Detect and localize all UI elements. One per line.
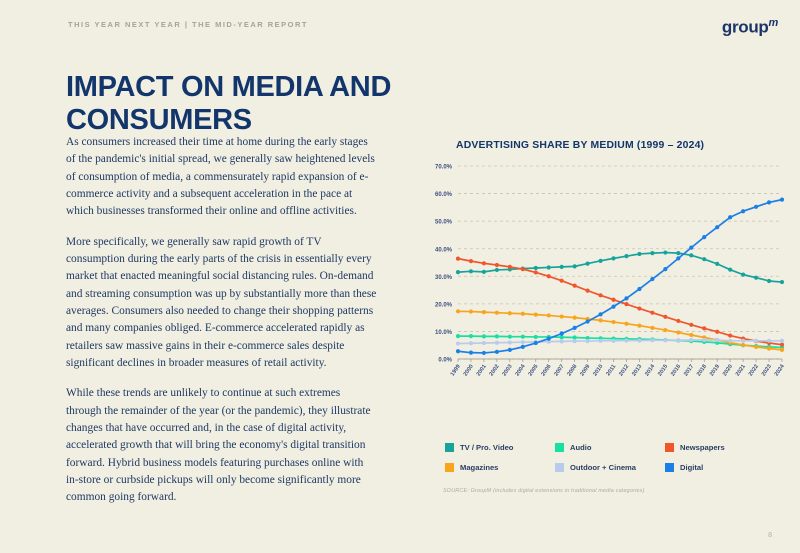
chart-data-point [534, 335, 538, 339]
x-axis-tick-label: 2022 [748, 364, 760, 378]
legend-item-digital[interactable]: Digital [665, 460, 775, 474]
chart-data-point [469, 309, 473, 313]
logo-text: group [722, 18, 769, 37]
legend-label: Newspapers [680, 443, 725, 452]
chart-data-point [482, 261, 486, 265]
chart-data-point [663, 250, 667, 254]
legend-swatch-icon [445, 443, 454, 452]
legend-swatch-icon [555, 443, 564, 452]
chart-data-point [676, 256, 680, 260]
chart-data-point [456, 270, 460, 274]
chart-data-point [780, 339, 784, 343]
x-axis-tick-label: 2012 [618, 364, 630, 378]
chart-data-point [663, 315, 667, 319]
x-axis-tick-label: 2011 [605, 364, 617, 377]
chart-data-point [495, 311, 499, 315]
chart-data-point [741, 339, 745, 343]
legend-swatch-icon [665, 463, 674, 472]
chart-data-point [482, 334, 486, 338]
x-axis-tick-label: 2004 [515, 363, 528, 377]
chart-data-point [689, 253, 693, 257]
chart-data-point [689, 246, 693, 250]
chart-data-point [624, 254, 628, 258]
chart-data-point [650, 326, 654, 330]
chart-data-point [469, 269, 473, 273]
x-axis-tick-label: 2015 [657, 364, 669, 378]
chart-data-point [780, 348, 784, 352]
chart-data-point [715, 338, 719, 342]
chart-data-point [650, 311, 654, 315]
chart-data-point [676, 319, 680, 323]
chart-data-point [611, 320, 615, 324]
chart-data-point [598, 293, 602, 297]
chart-data-point [573, 264, 577, 268]
chart-data-point [508, 265, 512, 269]
chart-data-point [741, 273, 745, 277]
advertising-share-line-chart: 0.0%10.0%20.0%30.0%40.0%50.0%60.0%70.0%1… [420, 160, 790, 405]
chart-data-point [715, 330, 719, 334]
chart-data-point [611, 298, 615, 302]
x-axis-tick-label: 2003 [502, 364, 514, 378]
chart-data-point [469, 259, 473, 263]
body-copy: As consumers increased their time at hom… [66, 134, 378, 520]
chart-data-point [586, 289, 590, 293]
x-axis-tick-label: 2017 [683, 364, 695, 378]
chart-plot-area: 0.0%10.0%20.0%30.0%40.0%50.0%60.0%70.0%1… [420, 160, 790, 405]
chart-data-point [547, 336, 551, 340]
chart-data-point [715, 225, 719, 229]
chart-data-point [560, 332, 564, 336]
legend-label: Audio [570, 443, 592, 452]
chart-data-point [534, 270, 538, 274]
x-axis-tick-label: 2024 [774, 363, 787, 377]
chart-data-point [754, 205, 758, 209]
chart-data-point [728, 339, 732, 343]
page-title: IMPACT ON MEDIA AND CONSUMERS [66, 71, 446, 137]
legend-item-outdoor-cinema[interactable]: Outdoor + Cinema [555, 460, 665, 474]
chart-data-point [586, 319, 590, 323]
chart-line-magazines [458, 311, 782, 350]
chart-data-point [650, 277, 654, 281]
x-axis-tick-label: 2006 [541, 364, 553, 378]
legend-swatch-icon [665, 443, 674, 452]
y-axis-tick-label: 20.0% [435, 302, 453, 308]
chart-data-point [637, 252, 641, 256]
x-axis-tick-label: 2019 [709, 364, 721, 378]
chart-data-point [624, 338, 628, 342]
chart-data-point [469, 351, 473, 355]
x-axis-tick-label: 2009 [579, 364, 591, 378]
chart-data-point [469, 341, 473, 345]
legend-label: Magazines [460, 463, 498, 472]
chart-data-point [560, 339, 564, 343]
page-number: 8 [768, 532, 772, 539]
chart-data-point [624, 296, 628, 300]
chart-data-point [728, 333, 732, 337]
x-axis-tick-label: 2010 [592, 364, 604, 378]
legend-item-tv-pro-video[interactable]: TV / Pro. Video [445, 440, 555, 454]
chart-data-point [521, 335, 525, 339]
chart-data-point [598, 318, 602, 322]
chart-data-point [728, 215, 732, 219]
chart-data-point [521, 345, 525, 349]
chart-data-point [456, 349, 460, 353]
chart-data-point [534, 313, 538, 317]
x-axis-tick-label: 1999 [450, 364, 462, 378]
chart-data-point [754, 276, 758, 280]
eyebrow-label: THIS YEAR NEXT YEAR | THE MID-YEAR REPOR… [68, 20, 308, 29]
chart-data-point [689, 323, 693, 327]
chart-data-point [611, 256, 615, 260]
chart-data-point [689, 338, 693, 342]
chart-data-point [508, 335, 512, 339]
x-axis-tick-label: 2000 [463, 364, 475, 378]
chart-data-point [495, 334, 499, 338]
x-axis-tick-label: 2007 [553, 364, 565, 378]
chart-data-point [560, 314, 564, 318]
chart-data-point [676, 251, 680, 255]
legend-label: Digital [680, 463, 703, 472]
slide-page: THIS YEAR NEXT YEAR | THE MID-YEAR REPOR… [0, 0, 800, 553]
x-axis-tick-label: 2020 [722, 364, 734, 378]
legend-item-newspapers[interactable]: Newspapers [665, 440, 775, 454]
chart-data-point [715, 262, 719, 266]
chart-data-point [482, 341, 486, 345]
chart-data-point [650, 338, 654, 342]
logo-superscript: m [769, 17, 778, 29]
groupm-logo: groupm [722, 17, 778, 38]
chart-data-point [611, 339, 615, 343]
legend-item-magazines[interactable]: Magazines [445, 460, 555, 474]
x-axis-tick-label: 2014 [644, 363, 657, 377]
chart-data-point [495, 350, 499, 354]
chart-data-point [754, 345, 758, 349]
chart-data-point [676, 338, 680, 342]
chart-data-point [573, 284, 577, 288]
chart-data-point [767, 279, 771, 283]
chart-data-point [598, 259, 602, 263]
chart-data-point [767, 346, 771, 350]
chart-data-point [456, 341, 460, 345]
chart-data-point [611, 305, 615, 309]
chart-data-point [780, 198, 784, 202]
y-axis-tick-label: 40.0% [435, 247, 453, 253]
chart-legend: TV / Pro. VideoAudioNewspapersMagazinesO… [445, 440, 775, 474]
chart-panel: ADVERTISING SHARE BY MEDIUM (1999 – 2024… [420, 128, 790, 428]
chart-data-point [547, 313, 551, 317]
y-axis-tick-label: 50.0% [435, 220, 453, 226]
chart-data-point [495, 341, 499, 345]
chart-data-point [637, 306, 641, 310]
chart-data-point [521, 340, 525, 344]
y-axis-tick-label: 10.0% [435, 330, 453, 336]
chart-data-point [637, 287, 641, 291]
chart-data-point [482, 310, 486, 314]
chart-data-point [728, 268, 732, 272]
legend-swatch-icon [445, 463, 454, 472]
x-axis-tick-label: 2023 [761, 364, 773, 378]
chart-data-point [624, 302, 628, 306]
chart-data-point [521, 312, 525, 316]
chart-data-point [456, 257, 460, 261]
chart-data-point [741, 209, 745, 213]
chart-data-point [508, 311, 512, 315]
chart-line-tv-pro-video [458, 253, 782, 283]
chart-data-point [508, 348, 512, 352]
legend-label: Outdoor + Cinema [570, 463, 636, 472]
chart-data-point [456, 309, 460, 313]
chart-data-point [547, 265, 551, 269]
chart-data-point [456, 334, 460, 338]
x-axis-tick-label: 2018 [696, 364, 708, 378]
legend-swatch-icon [555, 463, 564, 472]
chart-data-point [702, 257, 706, 261]
chart-data-point [702, 235, 706, 239]
chart-data-point [650, 251, 654, 255]
y-axis-tick-label: 70.0% [435, 165, 453, 171]
chart-data-point [767, 200, 771, 204]
chart-data-point [482, 351, 486, 355]
chart-data-point [702, 326, 706, 330]
x-axis-tick-label: 2002 [489, 364, 501, 378]
chart-data-point [573, 335, 577, 339]
x-axis-tick-label: 2021 [735, 364, 747, 378]
chart-data-point [521, 267, 525, 271]
chart-data-point [586, 262, 590, 266]
chart-data-point [702, 338, 706, 342]
chart-data-point [573, 326, 577, 330]
chart-data-point [573, 316, 577, 320]
x-axis-tick-label: 2005 [528, 364, 540, 378]
chart-data-point [495, 263, 499, 267]
paragraph-1: As consumers increased their time at hom… [66, 134, 378, 221]
chart-data-point [663, 338, 667, 342]
chart-data-point [508, 340, 512, 344]
chart-data-point [573, 339, 577, 343]
chart-data-point [663, 328, 667, 332]
chart-data-point [534, 341, 538, 345]
x-axis-tick-label: 2013 [631, 364, 643, 378]
chart-data-point [780, 343, 784, 347]
legend-item-audio[interactable]: Audio [555, 440, 665, 454]
chart-data-point [586, 339, 590, 343]
chart-data-point [624, 322, 628, 326]
chart-data-point [780, 280, 784, 284]
chart-data-point [676, 330, 680, 334]
y-axis-tick-label: 0.0% [438, 358, 452, 364]
chart-data-point [767, 339, 771, 343]
chart-data-point [637, 324, 641, 328]
chart-data-point [663, 267, 667, 271]
source-note: SOURCE: GroupM (includes digital extensi… [443, 488, 645, 494]
x-axis-tick-label: 2001 [476, 364, 488, 378]
chart-data-point [547, 274, 551, 278]
chart-data-point [637, 338, 641, 342]
chart-data-point [560, 279, 564, 283]
chart-data-point [598, 339, 602, 343]
chart-data-point [534, 266, 538, 270]
chart-data-point [689, 333, 693, 337]
chart-title: ADVERTISING SHARE BY MEDIUM (1999 – 2024… [456, 140, 704, 151]
x-axis-tick-label: 2008 [566, 364, 578, 378]
chart-data-point [469, 334, 473, 338]
chart-data-point [754, 339, 758, 343]
chart-data-point [495, 268, 499, 272]
y-axis-tick-label: 60.0% [435, 192, 453, 198]
chart-data-point [598, 312, 602, 316]
chart-data-point [560, 265, 564, 269]
chart-data-point [482, 270, 486, 274]
chart-data-point [741, 343, 745, 347]
chart-data-point [560, 335, 564, 339]
legend-label: TV / Pro. Video [460, 443, 513, 452]
paragraph-2: More specifically, we generally saw rapi… [66, 234, 378, 373]
x-axis-tick-label: 2016 [670, 364, 682, 378]
y-axis-tick-label: 30.0% [435, 275, 453, 281]
paragraph-3: While these trends are unlikely to conti… [66, 385, 378, 506]
